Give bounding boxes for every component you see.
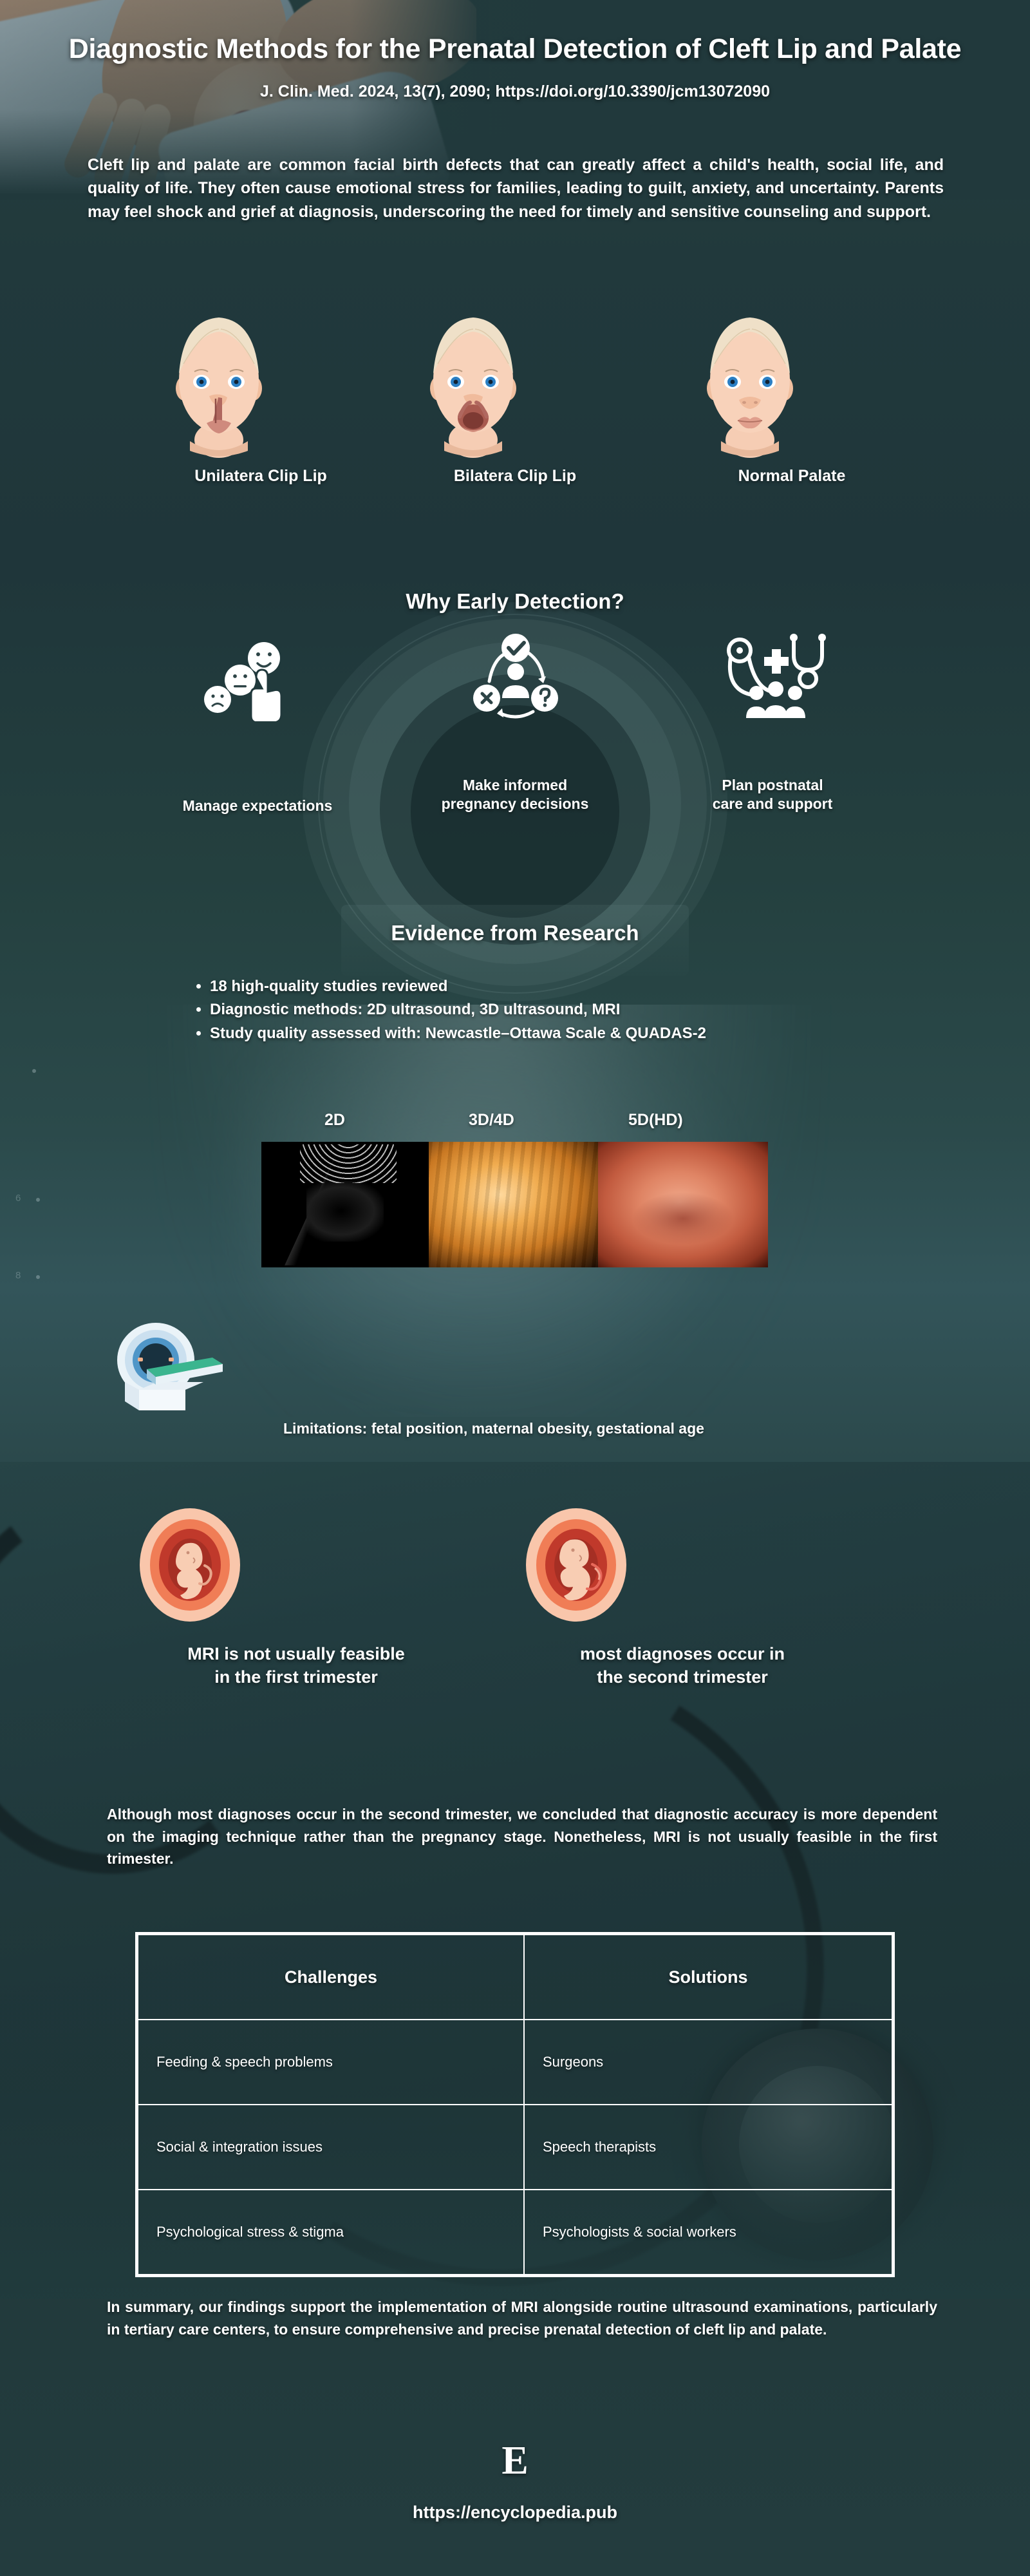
why-item-label: Make informed pregnancy decisions: [393, 776, 637, 813]
intro-paragraph: Cleft lip and palate are common facial b…: [88, 153, 944, 223]
evidence-title: Evidence from Research: [0, 921, 1030, 945]
cleft-type-card-bilateral: Bilatera Clip Lip: [418, 312, 612, 486]
evidence-bullet-list: 18 high-quality studies reviewed Diagnos…: [193, 975, 706, 1045]
modality-label-5dhd: 5D(HD): [628, 1111, 683, 1130]
modality-label-2d: 2D: [324, 1111, 345, 1130]
infographic-page: 6 8 Diagnostic Methods for the Prenatal …: [0, 0, 1030, 2576]
ultrasound-image-5dhd: [598, 1142, 768, 1267]
column-header-solutions: Solutions: [524, 1935, 892, 2020]
why-item-plan-postnatal-care: Plan postnatal care and support: [650, 634, 895, 813]
ultrasound-image-3d4d: [429, 1142, 598, 1267]
modality-label-3d4d: 3D/4D: [469, 1111, 514, 1130]
cell-challenge: Social & integration issues: [138, 2105, 524, 2190]
table-row: Feeding & speech problems Surgeons: [138, 2020, 892, 2105]
why-item-label: Plan postnatal care and support: [650, 776, 895, 813]
cell-solution: Psychologists & social workers: [524, 2190, 892, 2275]
page-title: Diagnostic Methods for the Prenatal Dete…: [0, 33, 1030, 65]
challenges-solutions-table: Challenges Solutions Feeding & speech pr…: [135, 1932, 895, 2277]
cell-solution: Speech therapists: [524, 2105, 892, 2190]
ultrasound-modalities-row: 2D 3D/4D 5D(HD): [261, 1111, 770, 1138]
cleft-type-label: Bilatera Clip Lip: [418, 467, 612, 486]
trimester-card-first: MRI is not usually feasible in the first…: [129, 1504, 464, 1689]
mri-limitations-text: Limitations: fetal position, maternal ob…: [283, 1420, 704, 1437]
trimester-caption: MRI is not usually feasible in the first…: [129, 1643, 464, 1689]
cell-solution: Surgeons: [524, 2020, 892, 2105]
baby-face-unilateral-cleft-icon: [164, 312, 274, 460]
why-early-detection-title: Why Early Detection?: [0, 589, 1030, 614]
trimester-caption: most diagnoses occur in the second trime…: [515, 1643, 850, 1689]
why-early-detection-row: Manage expectations: [0, 634, 1030, 847]
trimester-card-second: most diagnoses occur in the second trime…: [515, 1504, 850, 1689]
footer-url-link[interactable]: https://encyclopedia.pub: [0, 2503, 1030, 2523]
footer: E https://encyclopedia.pub: [0, 2441, 1030, 2523]
cleft-type-label: Normal Palate: [695, 467, 888, 486]
decision-cycle-person-icon: [462, 631, 568, 728]
conclusion-paragraph: Although most diagnoses occur in the sec…: [107, 1803, 937, 1870]
encyclopedia-logo-icon: E: [0, 2441, 1030, 2481]
table-row: Social & integration issues Speech thera…: [138, 2105, 892, 2190]
first-trimester-embryo-icon: [129, 1504, 251, 1626]
list-item: Diagnostic methods: 2D ultrasound, 3D ul…: [210, 998, 706, 1021]
journal-citation: J. Clin. Med. 2024, 13(7), 2090; https:/…: [0, 82, 1030, 101]
summary-paragraph: In summary, our findings support the imp…: [107, 2296, 937, 2340]
mri-scanner-icon: [109, 1320, 238, 1417]
cell-challenge: Psychological stress & stigma: [138, 2190, 524, 2275]
baby-face-bilateral-cleft-icon: [418, 312, 528, 460]
cell-challenge: Feeding & speech problems: [138, 2020, 524, 2105]
column-header-challenges: Challenges: [138, 1935, 524, 2020]
cleft-type-card-unilateral: Unilatera Clip Lip: [164, 312, 357, 486]
second-trimester-fetus-icon: [515, 1504, 637, 1626]
why-item-manage-expectations: Manage expectations: [135, 634, 380, 815]
why-item-label: Manage expectations: [135, 797, 380, 815]
table-row: Psychological stress & stigma Psychologi…: [138, 2190, 892, 2275]
ultrasound-image-2d: [261, 1142, 429, 1267]
stethoscope-care-team-icon: [716, 631, 829, 728]
list-item: Study quality assessed with: Newcastle–O…: [210, 1022, 706, 1045]
cleft-type-card-normal: Normal Palate: [695, 312, 888, 486]
why-item-informed-decisions: Make informed pregnancy decisions: [393, 634, 637, 813]
baby-face-normal-icon: [695, 312, 805, 460]
list-item: 18 high-quality studies reviewed: [210, 975, 706, 998]
cleft-types-row: Unilatera Clip Lip: [0, 312, 1030, 531]
cleft-type-label: Unilatera Clip Lip: [164, 467, 357, 486]
table-header-row: Challenges Solutions: [138, 1935, 892, 2020]
emoji-faces-pointing-hand-icon: [200, 638, 315, 721]
